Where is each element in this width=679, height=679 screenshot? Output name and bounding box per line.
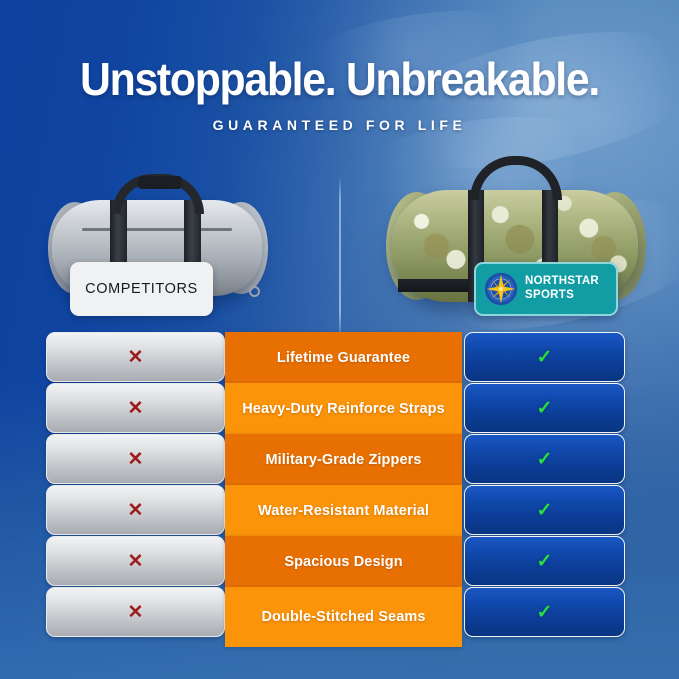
brand-cell: ✓ [464,536,625,586]
feature-label: Military-Grade Zippers [265,452,421,468]
feature-label: Lifetime Guarantee [277,350,410,366]
feature-cell: Double-Stitched Seams [225,587,462,647]
feature-label: Double-Stitched Seams [261,609,425,625]
page-subtitle: GUARANTEED FOR LIFE [0,117,679,133]
competitor-cell: ✕ [46,332,225,382]
cross-icon: ✕ [128,399,144,418]
check-icon: ✓ [537,450,553,469]
feature-label: Water-Resistant Material [258,503,429,519]
check-icon: ✓ [537,501,553,520]
feature-label: Heavy-Duty Reinforce Straps [242,401,445,417]
brand-label-badge: NORTHSTAR SPORTS [474,262,618,316]
check-icon: ✓ [537,348,553,367]
brand-cell: ✓ [464,332,625,382]
competitor-cell: ✕ [46,383,225,433]
competitors-label-text: COMPETITORS [85,281,198,297]
compass-star-logo-icon [484,272,518,306]
bag-handle-grip [138,176,182,189]
bag-d-ring [249,286,260,297]
check-icon: ✓ [537,603,553,622]
page-title: Unstoppable. Unbreakable. [24,55,655,103]
header: Unstoppable. Unbreakable. GUARANTEED FOR… [0,0,679,133]
brand-cell: ✓ [464,434,625,484]
cross-icon: ✕ [128,552,144,571]
competitor-cell: ✕ [46,587,225,637]
brand-label-text: NORTHSTAR SPORTS [525,275,599,302]
cross-icon: ✕ [128,450,144,469]
bag-zipper [82,228,232,231]
feature-cell: Lifetime Guarantee [225,332,462,383]
competitors-label-badge: COMPETITORS [70,262,213,316]
cross-icon: ✕ [128,501,144,520]
feature-cell: Spacious Design [225,536,462,587]
check-icon: ✓ [537,399,553,418]
feature-cell: Heavy-Duty Reinforce Straps [225,383,462,434]
competitor-cell: ✕ [46,536,225,586]
brand-cell: ✓ [464,383,625,433]
feature-label: Spacious Design [284,554,402,570]
cross-icon: ✕ [128,348,144,367]
brand-cell: ✓ [464,485,625,535]
feature-cell: Military-Grade Zippers [225,434,462,485]
competitor-cell: ✕ [46,434,225,484]
feature-cell: Water-Resistant Material [225,485,462,536]
check-icon: ✓ [537,552,553,571]
bag-handle [470,156,562,200]
brand-name-line1: NORTHSTAR [525,275,599,287]
competitor-cell: ✕ [46,485,225,535]
brand-cell: ✓ [464,587,625,637]
vertical-divider [339,176,341,334]
cross-icon: ✕ [128,603,144,622]
brand-name-line2: SPORTS [525,289,574,301]
